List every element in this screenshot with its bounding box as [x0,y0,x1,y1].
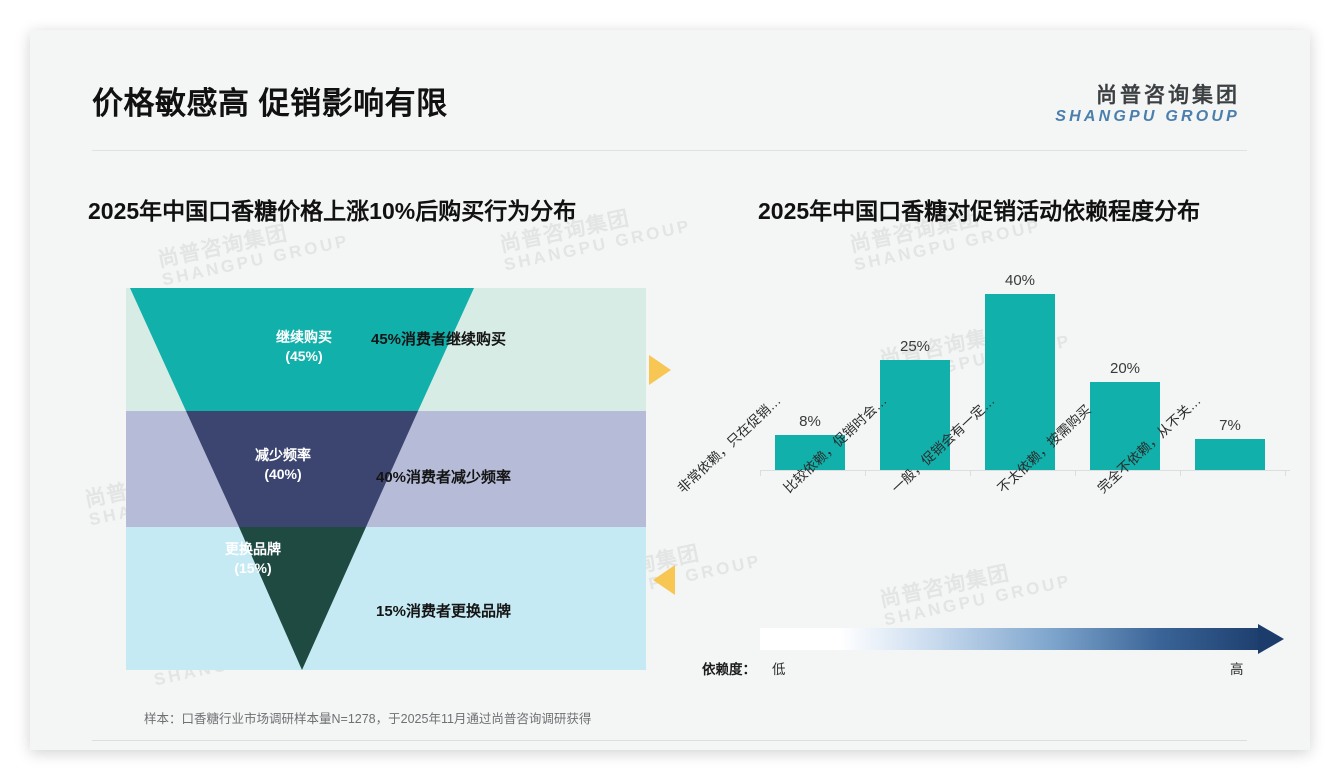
left-chart-title: 2025年中国口香糖价格上涨10%后购买行为分布 [88,192,576,226]
triangle-left-icon [653,565,675,595]
triangle-right-icon [649,355,671,385]
bar-value-4: 20% [1081,360,1169,377]
legend-low-label: 低 [772,658,786,678]
funnel-annotation-3: 15%消费者更换品牌 [376,600,511,621]
legend-gradient-bar [760,628,1260,650]
source-note: 样本：口香糖行业市场调研样本量N=1278，于2025年11月通过尚普咨询调研获… [144,708,591,727]
axis-tick [1075,470,1076,476]
funnel-label-3-line1: 更换品牌 [188,540,318,559]
axis-tick [865,470,866,476]
funnel-label-1-line2: (45%) [239,347,369,366]
funnel-label-2-line1: 减少频率 [218,446,348,465]
funnel-label-1-line1: 继续购买 [239,328,369,347]
logo-text-en: SHANGPU GROUP [1055,108,1240,126]
funnel-label-3: 更换品牌 (15%) [188,540,318,578]
funnel-label-3-line2: (15%) [188,559,318,578]
axis-tick [970,470,971,476]
funnel-label-1: 继续购买 (45%) [239,328,369,366]
funnel-annotation-1: 45%消费者继续购买 [371,328,506,349]
header-divider [92,150,1247,151]
legend-title: 依赖度： [702,658,756,678]
legend-high-label: 高 [1230,658,1244,678]
axis-tick [760,470,761,476]
bar-value-3: 40% [976,272,1064,289]
footer-website[interactable]: www.shangpu-china.com [1107,749,1246,750]
watermark-en: SHANGPU GROUP [161,232,352,289]
funnel-label-2-line2: (40%) [218,465,348,484]
watermark-cn: 尚普咨询集团 [878,551,1069,612]
axis-tick [1180,470,1181,476]
bar-5 [1195,439,1265,470]
funnel-label-2: 减少频率 (40%) [218,446,348,484]
page-title: 价格敏感高 促销影响有限 [92,78,448,123]
funnel-chart: 继续购买 (45%) 减少频率 (40%) 更换品牌 (15%) 45%消费者继… [126,288,646,670]
funnel-annotation-2: 40%消费者减少频率 [376,466,511,487]
bar-column: 7% [1186,292,1274,470]
axis-tick [1285,470,1286,476]
footer-divider [92,740,1247,741]
bar-value-2: 25% [871,338,959,355]
legend-arrow-icon [1258,624,1284,654]
watermark-en: SHANGPU GROUP [883,572,1074,629]
right-chart-title: 2025年中国口香糖对促销活动依赖程度分布 [758,192,1200,226]
brand-logo: 尚普咨询集团 SHANGPU GROUP [1055,84,1240,126]
bar-value-5: 7% [1186,417,1274,434]
slide: 尚普咨询集团 SHANGPU GROUP 尚普咨询集团 SHANGPU GROU… [30,30,1310,750]
footer-copyright: ©2026.1 SHANGPU GROUP [94,749,256,750]
logo-text-cn: 尚普咨询集团 [1055,84,1240,108]
watermark: 尚普咨询集团 SHANGPU GROUP [878,551,1073,630]
dependency-legend: 依赖度： 低 高 [730,628,1290,674]
